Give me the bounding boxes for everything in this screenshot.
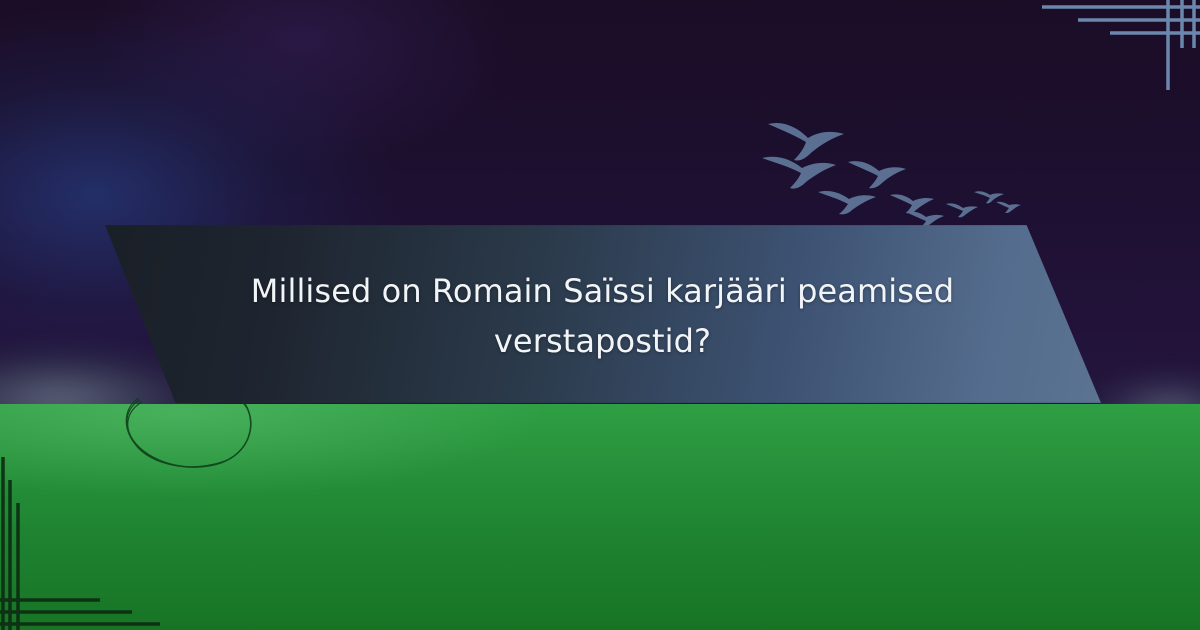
- headline-line-1: Millised on Romain Saïssi karjääri peami…: [251, 266, 954, 316]
- headline-line-2: verstapostid?: [494, 316, 711, 366]
- social-card: Millised on Romain Saïssi karjääri peami…: [0, 0, 1200, 630]
- ground-field: [0, 404, 1200, 630]
- headline-block: Millised on Romain Saïssi karjääri peami…: [100, 224, 1105, 404]
